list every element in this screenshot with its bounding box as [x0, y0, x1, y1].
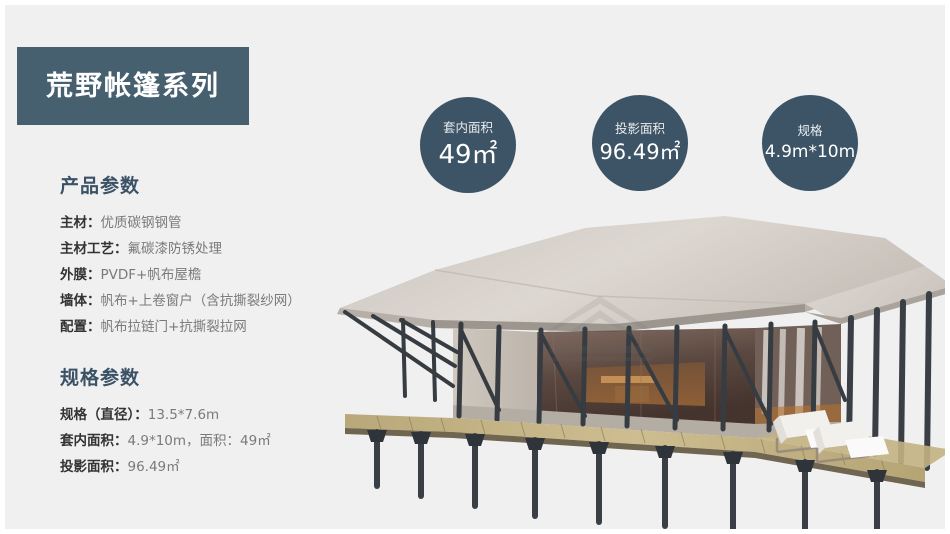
badge-value: 96.49㎡: [599, 142, 680, 163]
badge-value: 49㎡: [438, 142, 497, 168]
spec-label: 主材：: [60, 215, 101, 231]
badge-label: 投影面积: [615, 123, 665, 136]
spec-value: 氟碳漆防锈处理: [128, 241, 223, 257]
spec-row: 套内面积：4.9*10m，面积：49㎡: [60, 428, 271, 454]
spec-row: 规格（直径）：13.5*7.6m: [60, 402, 271, 428]
product-params-block: 产品参数 主材：优质碳钢钢管 主材工艺：氟碳漆防锈处理 外膜：PVDF+帆布屋檐…: [60, 171, 301, 340]
product-spec-page: 荒野帐篷系列 产品参数 主材：优质碳钢钢管 主材工艺：氟碳漆防锈处理 外膜：PV…: [0, 0, 950, 534]
badge-circle-dimensions: 规格 4.9m*10m: [762, 95, 858, 191]
spec-label: 规格（直径）：: [60, 407, 148, 423]
spec-row: 主材工艺：氟碳漆防锈处理: [60, 236, 301, 262]
spec-value: 13.5*7.6m: [148, 407, 219, 423]
spec-label: 墙体：: [60, 293, 101, 309]
spec-row: 墙体：帆布+上卷窗户（含抗撕裂纱网）: [60, 288, 301, 314]
spec-row: 外膜：PVDF+帆布屋檐: [60, 262, 301, 288]
title-banner: 荒野帐篷系列: [17, 47, 249, 125]
spec-row: 配置：帆布拉链门+抗撕裂拉网: [60, 314, 301, 340]
badge-value: 4.9m*10m: [765, 144, 855, 161]
size-params-heading: 规格参数: [60, 363, 271, 390]
spec-value: 96.49㎡: [128, 459, 180, 475]
badge-label: 套内面积: [443, 122, 493, 135]
tent-render-image: [285, 200, 950, 530]
spec-label: 外膜：: [60, 267, 101, 283]
spec-label: 投影面积：: [60, 459, 128, 475]
spec-label: 主材工艺：: [60, 241, 128, 257]
product-params-heading: 产品参数: [60, 171, 301, 198]
spec-row: 投影面积：96.49㎡: [60, 454, 271, 480]
spec-label: 套内面积：: [60, 433, 128, 449]
badge-circle-projected-area: 投影面积 96.49㎡: [592, 95, 688, 191]
spec-value: 优质碳钢钢管: [101, 215, 182, 231]
spec-row: 主材：优质碳钢钢管: [60, 210, 301, 236]
spec-label: 配置：: [60, 319, 101, 335]
badge-label: 规格: [797, 125, 822, 138]
page-title: 荒野帐篷系列: [46, 73, 220, 100]
spec-value: PVDF+帆布屋檐: [101, 267, 202, 283]
badge-circle-interior-area: 套内面积 49㎡: [420, 97, 516, 193]
spec-value: 帆布拉链门+抗撕裂拉网: [101, 319, 247, 335]
spec-value: 4.9*10m，面积：49㎡: [128, 433, 271, 449]
size-params-block: 规格参数 规格（直径）：13.5*7.6m 套内面积：4.9*10m，面积：49…: [60, 363, 271, 480]
spec-value: 帆布+上卷窗户（含抗撕裂纱网）: [101, 293, 301, 309]
